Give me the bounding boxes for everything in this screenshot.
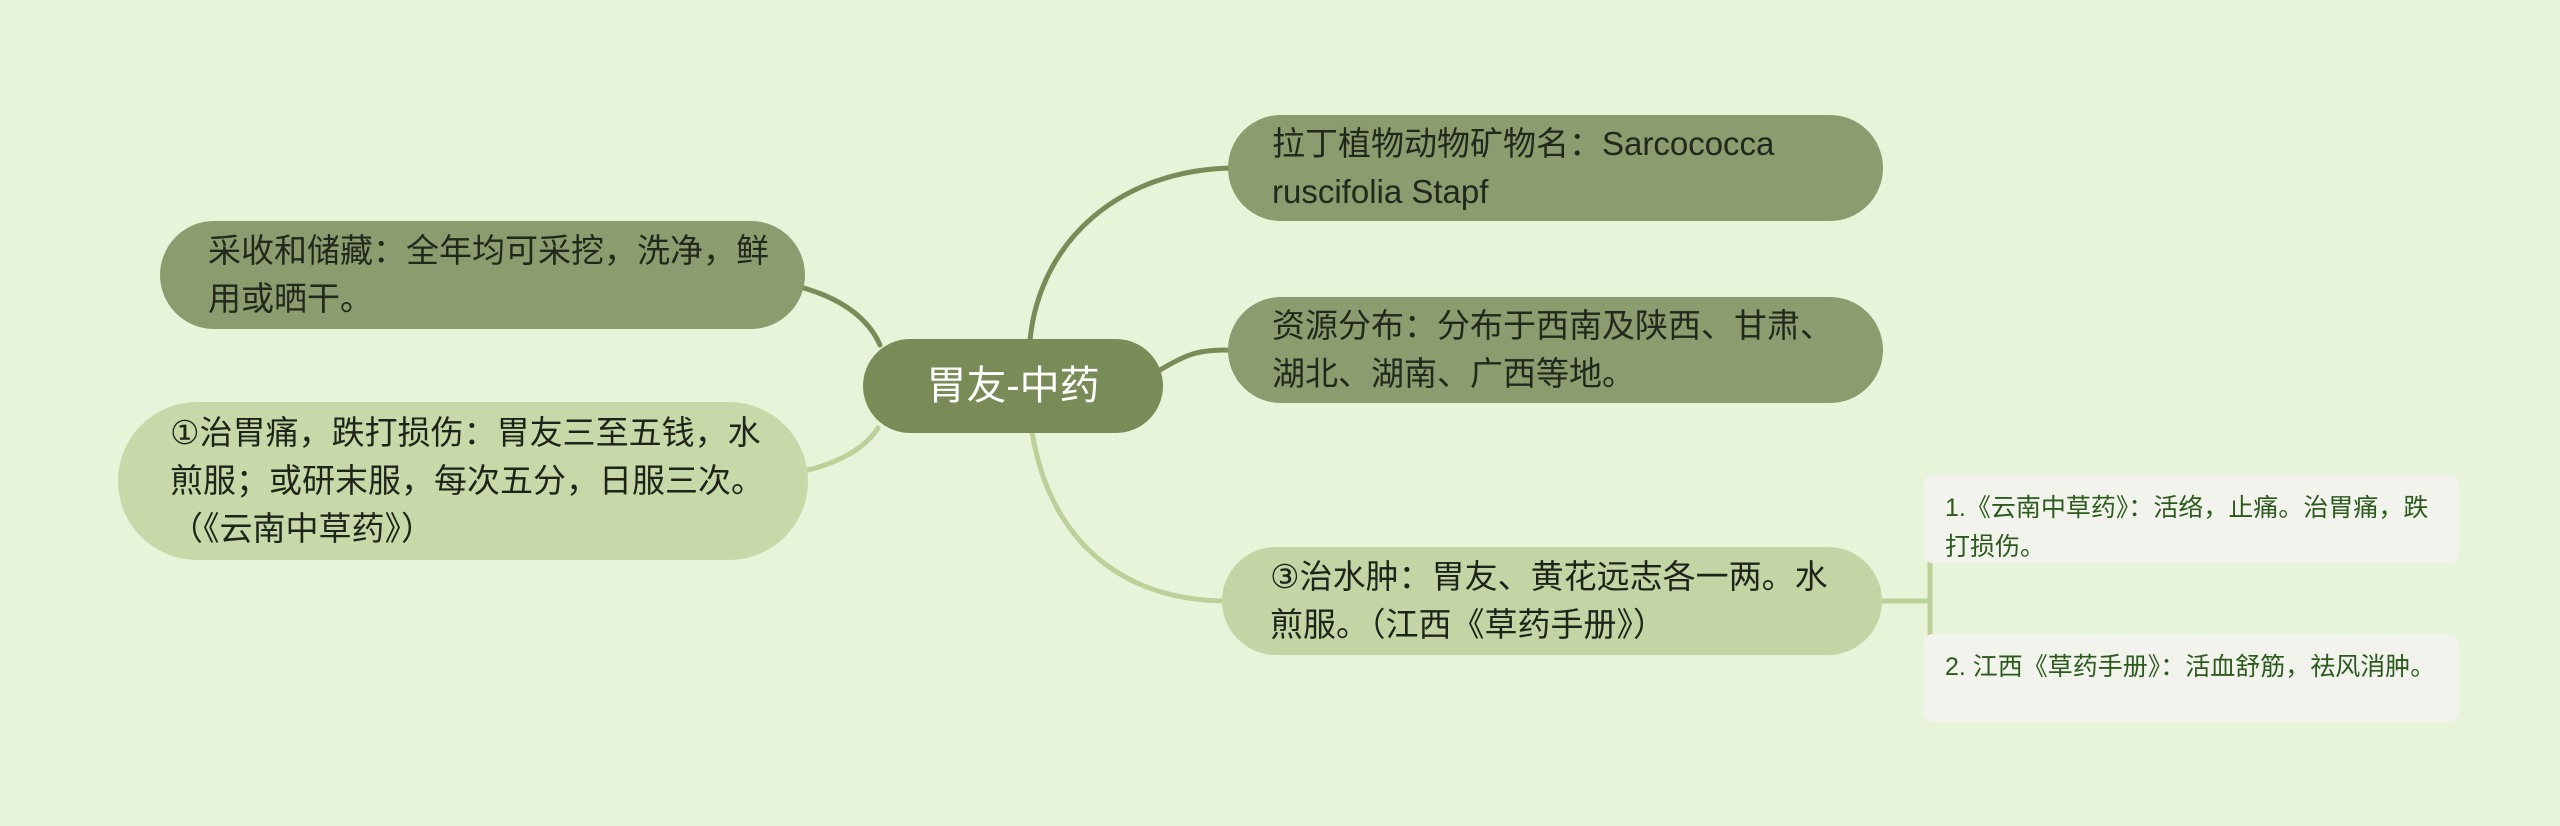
connector-root-to-recipe-3 — [1032, 432, 1226, 601]
mindmap-node-reference-jiangxi-label: 2. 江西《草药手册》：活血舒筋，祛风消肿。 — [1945, 648, 2441, 687]
connector-root-to-latin-name — [1030, 168, 1232, 340]
mindmap-node-recipe-1[interactable]: ①治胃痛，跌打损伤：胃友三至五钱，水煎服；或研末服，每次五分，日服三次。（《云南… — [118, 402, 808, 560]
mindmap-canvas: 胃友-中药 拉丁植物动物矿物名：Sarcococca ruscifolia St… — [0, 0, 2560, 826]
mindmap-node-recipe-3[interactable]: ③治水肿：胃友、黄花远志各一两。水煎服。（江西《草药手册》） — [1222, 547, 1882, 655]
connector-root-to-resource-dist — [1160, 350, 1232, 370]
mindmap-node-reference-yunnan-label: 1.《云南中草药》：活络，止痛。治胃痛，跌打损伤。 — [1945, 489, 2441, 567]
mindmap-node-reference-yunnan[interactable]: 1.《云南中草药》：活络，止痛。治胃痛，跌打损伤。 — [1923, 475, 2459, 563]
mindmap-node-resource-distribution[interactable]: 资源分布：分布于西南及陕西、甘肃、湖北、湖南、广西等地。 — [1228, 297, 1883, 403]
mindmap-node-recipe-3-label: ③治水肿：胃友、黄花远志各一两。水煎服。（江西《草药手册》） — [1270, 553, 1854, 649]
mindmap-node-latin-name-label: 拉丁植物动物矿物名：Sarcococca ruscifolia Stapf — [1272, 120, 1855, 216]
mindmap-node-harvest-and-storage[interactable]: 采收和储藏：全年均可采挖，洗净，鲜用或晒干。 — [160, 221, 805, 329]
mindmap-node-reference-jiangxi[interactable]: 2. 江西《草药手册》：活血舒筋，祛风消肿。 — [1923, 634, 2459, 722]
mindmap-node-recipe-1-label: ①治胃痛，跌打损伤：胃友三至五钱，水煎服；或研末服，每次五分，日服三次。（《云南… — [170, 409, 778, 553]
mindmap-node-harvest-and-storage-label: 采收和储藏：全年均可采挖，洗净，鲜用或晒干。 — [208, 227, 777, 323]
mindmap-root-node[interactable]: 胃友-中药 — [863, 339, 1163, 433]
mindmap-node-latin-name[interactable]: 拉丁植物动物矿物名：Sarcococca ruscifolia Stapf — [1228, 115, 1883, 221]
mindmap-node-resource-distribution-label: 资源分布：分布于西南及陕西、甘肃、湖北、湖南、广西等地。 — [1272, 302, 1855, 398]
mindmap-root-label: 胃友-中药 — [863, 361, 1163, 411]
